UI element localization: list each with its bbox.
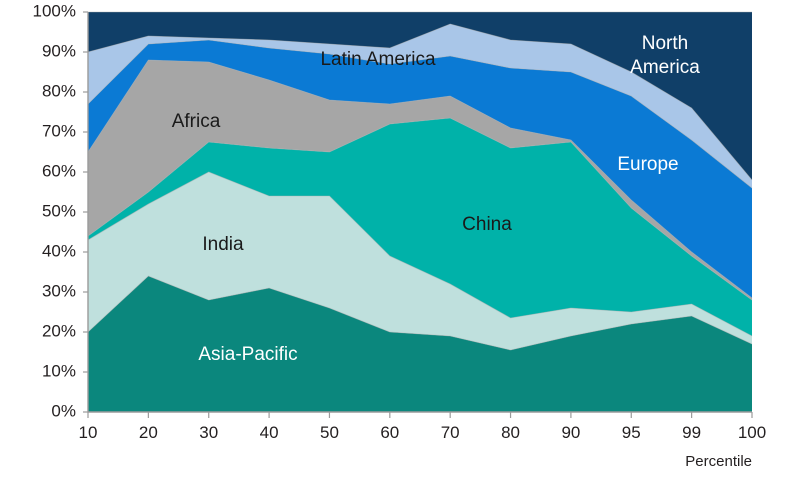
series-label-europe: Europe <box>617 154 678 175</box>
series-label-africa: Africa <box>172 111 221 132</box>
x-tick-label: 70 <box>441 423 460 442</box>
y-tick-label: 10% <box>42 361 76 380</box>
x-tick-label: 50 <box>320 423 339 442</box>
x-tick-label: 99 <box>682 423 701 442</box>
chart-container: 0%10%20%30%40%50%60%70%80%90%100% 102030… <box>0 0 800 480</box>
series-label-latin-america: Latin America <box>320 49 436 70</box>
x-tick-label: 30 <box>199 423 218 442</box>
y-tick-label: 20% <box>42 321 76 340</box>
x-tick-label: 100 <box>738 423 766 442</box>
y-tick-label: 40% <box>42 241 76 260</box>
y-tick-label: 70% <box>42 121 76 140</box>
x-tick-label: 20 <box>139 423 158 442</box>
x-tick-label: 90 <box>561 423 580 442</box>
series-label-india: India <box>202 234 244 255</box>
stacked-area-chart: 0%10%20%30%40%50%60%70%80%90%100% 102030… <box>0 0 800 480</box>
y-tick-label: 80% <box>42 81 76 100</box>
x-tick-label: 60 <box>380 423 399 442</box>
y-tick-label: 30% <box>42 281 76 300</box>
y-tick-label: 0% <box>51 401 76 420</box>
x-tick-label: 80 <box>501 423 520 442</box>
y-tick-label: 100% <box>33 1 76 20</box>
y-tick-label: 60% <box>42 161 76 180</box>
y-axis-tick-labels: 0%10%20%30%40%50%60%70%80%90%100% <box>33 1 88 420</box>
x-tick-label: 10 <box>79 423 98 442</box>
series-label-asia-pacific: Asia-Pacific <box>198 344 297 365</box>
series-label-china: China <box>462 214 512 235</box>
y-tick-label: 50% <box>42 201 76 220</box>
x-tick-label: 95 <box>622 423 641 442</box>
x-axis-tick-labels: 1020304050607080909599100 <box>79 412 767 442</box>
y-tick-label: 90% <box>42 41 76 60</box>
x-tick-label: 40 <box>260 423 279 442</box>
x-axis-title: Percentile <box>685 453 752 470</box>
